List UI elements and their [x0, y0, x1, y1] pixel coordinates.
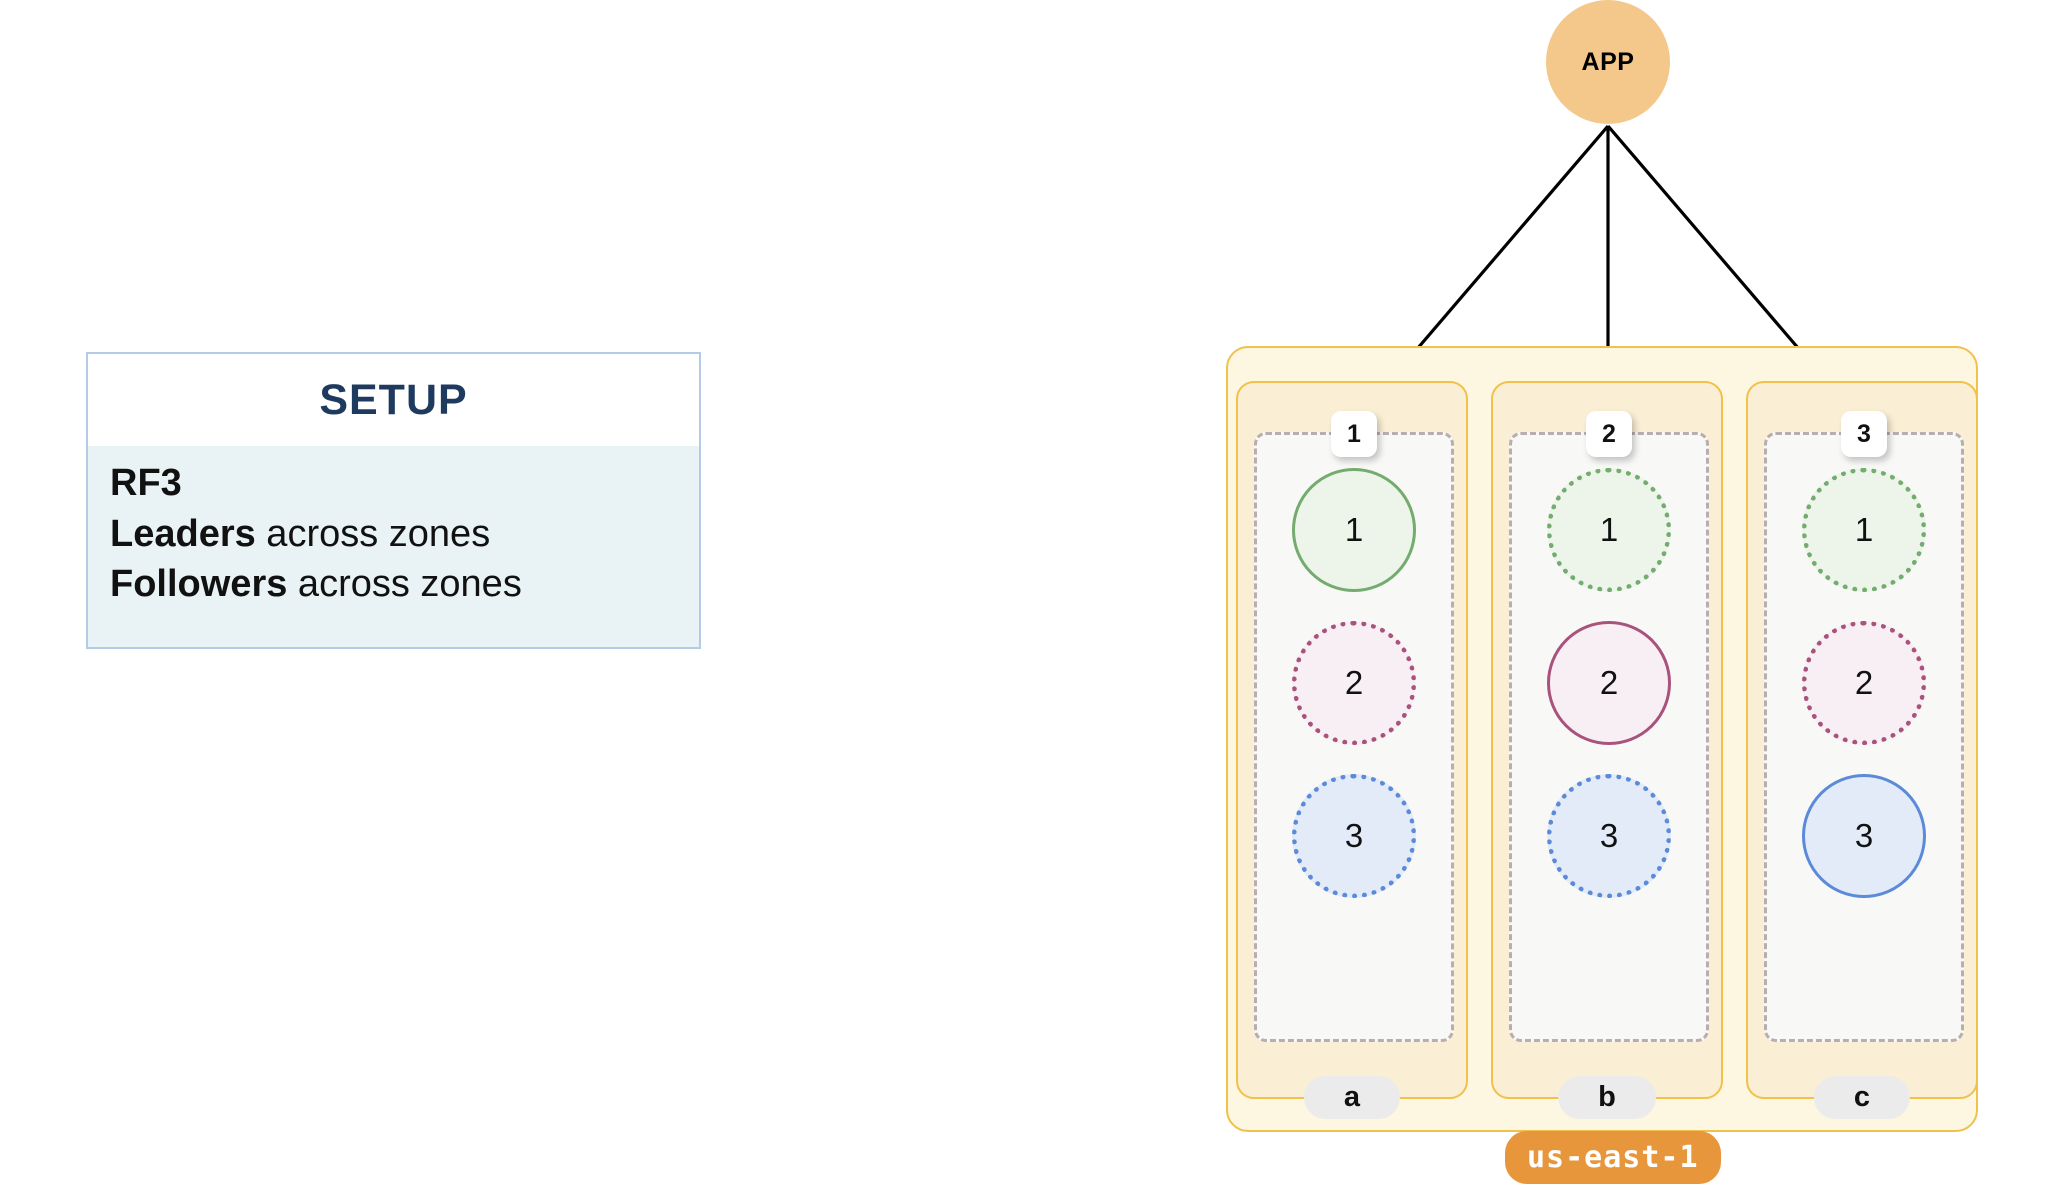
zone-badge-c: 3 [1841, 411, 1887, 457]
replica-c-2[interactable]: 2 [1802, 621, 1926, 745]
setup-title: SETUP [319, 376, 467, 425]
setup-line-1-rest: across zones [256, 513, 490, 555]
replica-c-1[interactable]: 1 [1802, 468, 1926, 592]
zone-box-a[interactable]: 1 1 2 3 a [1236, 381, 1468, 1099]
replica-c-3[interactable]: 3 [1802, 774, 1926, 898]
zone-name-a: a [1304, 1076, 1400, 1119]
app-node[interactable]: APP [1546, 0, 1670, 124]
setup-line-2-rest: across zones [287, 563, 521, 605]
diagram-canvas: SETUP RF3 Leaders across zones Followers… [0, 0, 2056, 1164]
replica-b-1[interactable]: 1 [1547, 468, 1671, 592]
setup-panel: SETUP RF3 Leaders across zones Followers… [86, 352, 701, 649]
zone-badge-a: 1 [1331, 411, 1377, 457]
zone-box-b[interactable]: 2 1 2 3 b [1491, 381, 1723, 1099]
zone-name-c: c [1814, 1076, 1910, 1119]
setup-panel-header: SETUP [88, 354, 699, 446]
zone-box-c[interactable]: 3 1 2 3 c [1746, 381, 1978, 1099]
app-node-label: APP [1582, 48, 1635, 77]
setup-line-0: RF3 [110, 458, 677, 509]
zone-name-b: b [1558, 1076, 1656, 1119]
setup-line-2-bold: Followers [110, 563, 287, 605]
setup-panel-body: RF3 Leaders across zones Followers acros… [88, 446, 699, 647]
replica-b-2[interactable]: 2 [1547, 621, 1671, 745]
zone-inner-c: 3 1 2 3 [1764, 432, 1964, 1042]
setup-line-2: Followers across zones [110, 559, 677, 610]
replica-b-3[interactable]: 3 [1547, 774, 1671, 898]
zone-inner-a: 1 1 2 3 [1254, 432, 1454, 1042]
zone-badge-b: 2 [1586, 411, 1632, 457]
setup-line-1: Leaders across zones [110, 509, 677, 560]
setup-line-0-bold: RF3 [110, 462, 182, 504]
replica-a-2[interactable]: 2 [1292, 621, 1416, 745]
replica-a-3[interactable]: 3 [1292, 774, 1416, 898]
region-label: us-east-1 [1505, 1131, 1721, 1184]
zone-inner-b: 2 1 2 3 [1509, 432, 1709, 1042]
replica-a-1[interactable]: 1 [1292, 468, 1416, 592]
setup-line-1-bold: Leaders [110, 513, 256, 555]
